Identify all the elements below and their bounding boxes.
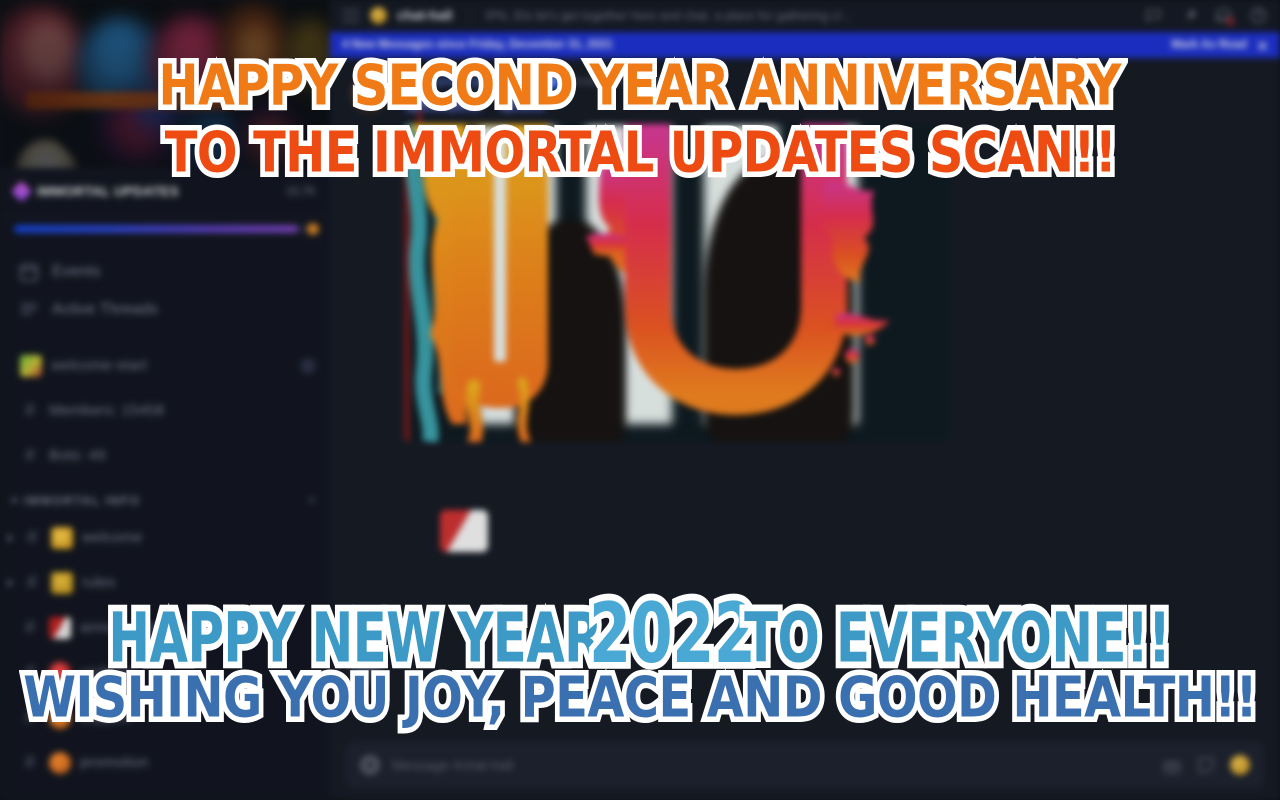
sidebar-item-welcome-start[interactable]: welcome-start [0,343,330,388]
members-icon: # [20,400,40,421]
chevron-right-icon [8,534,13,542]
sidebar-item-support[interactable]: # support [0,695,330,740]
sidebar-item-label: announcements [80,619,189,636]
reaction-emoji-icon[interactable] [440,510,488,552]
bots-icon: # [20,445,40,466]
calendar-icon [18,261,40,283]
iu-logo-svg [404,124,949,442]
sidebar-item-label: updates [80,664,135,681]
sidebar-item-label: promotion [80,754,149,771]
emoji-icon [49,662,71,684]
message-item[interactable] [350,650,398,686]
sidebar-item-promotion[interactable]: # promotion [0,740,330,785]
mention-everyone[interactable]: @everyone [404,97,482,113]
boost-progress-fill [14,225,298,233]
channel-topbar: chat-hall IPN, IDs let's get together he… [330,0,1280,32]
sidebar-item-label: Active Threads [52,301,158,319]
threads-icon[interactable] [1144,6,1163,25]
unread-text: 4 New Messages since Friday, December 31… [342,39,1171,51]
emoji-icon [49,617,71,639]
unread-messages-bar[interactable]: 4 New Messages since Friday, December 31… [330,32,1280,58]
boost-progress-track [14,225,316,233]
emoji-icon [49,752,71,774]
message-composer[interactable]: Message #chat-hall [346,742,1264,788]
mark-as-read-button[interactable]: Mark As Read [1171,39,1247,51]
mention-here[interactable]: @here [499,97,547,113]
avatar[interactable] [350,652,384,686]
emoji-icon [51,572,73,594]
emoji-icon[interactable] [1230,755,1250,775]
chevron-right-icon [8,579,13,587]
message-image-attachment[interactable] [404,124,949,442]
server-sidebar: IMMORTAL UPDATES 15,7K Events Active Thr… [0,0,330,800]
message-header: ImmortalUpdates BOT Today at 12:04 AM [404,72,1260,92]
sidebar-item-label: Events [52,263,101,281]
menu-icon[interactable] [342,9,360,23]
sidebar-item-bots[interactable]: # Bots: 49 [0,433,330,478]
channel-list[interactable]: Events Active Threads welcome-start # Me… [0,239,330,800]
message-item[interactable]: ImmortalUpdates BOT Today at 12:04 AM @e… [350,72,1260,442]
pin-icon[interactable] [1179,6,1198,25]
server-member-count: 15,7K [286,186,316,198]
boost-progress-knob [307,223,319,235]
bot-badge: BOT [530,76,562,89]
message-body: ImmortalUpdates BOT Today at 12:04 AM @e… [404,72,1260,442]
sidebar-item-events[interactable]: Events [0,253,330,291]
inbox-icon[interactable] [1214,6,1233,25]
banner-fade [0,0,330,168]
help-icon[interactable] [1249,6,1268,25]
close-icon[interactable] [1257,40,1268,51]
main-content: chat-hall IPN, IDs let's get together he… [330,0,1280,800]
boost-diamond-icon [11,181,32,202]
category-label: IMMORTAL INFO [24,494,300,508]
sidebar-item-badge [300,358,316,374]
message-timestamp: Today at 12:04 AM [571,76,666,88]
inbox-badge [1226,17,1235,26]
sidebar-item-members[interactable]: # Members: 15458 [0,388,330,433]
message-text: @everyone @here [404,95,1260,116]
gift-icon[interactable] [1162,755,1182,775]
avatar[interactable] [350,74,390,114]
sidebar-item-welcome[interactable]: # welcome [0,515,330,560]
iu-logo [404,124,949,442]
discord-app-window: IMMORTAL UPDATES 15,7K Events Active Thr… [0,0,1280,800]
hash-icon: # [22,527,42,548]
channel-topic: IPN, IDs let's get together here and cha… [486,9,1122,23]
sticker-icon[interactable] [1196,755,1216,775]
hash-icon: # [22,572,42,593]
emoji-icon [51,527,73,549]
message-input[interactable]: Message #chat-hall [392,757,1150,773]
message-list[interactable]: ImmortalUpdates BOT Today at 12:04 AM @e… [330,58,1280,742]
channel-category-immortal-info[interactable]: IMMORTAL INFO + [0,478,330,515]
hash-icon: # [20,662,40,683]
sidebar-item-label: Members: 15458 [49,402,164,419]
threads-icon [18,299,40,321]
composer-icons [1162,755,1250,775]
chat-emoji-icon [370,7,387,24]
message-author[interactable]: ImmortalUpdates [404,74,522,90]
hash-icon: # [20,752,40,773]
sidebar-item-rules[interactable]: # rules [0,560,330,605]
sidebar-item-label: Bots: 49 [49,447,106,464]
sidebar-item-label: welcome [82,529,143,546]
unread-actions: Mark As Read [1171,39,1268,51]
hash-icon: # [20,707,40,728]
add-channel-icon[interactable]: + [307,492,316,509]
sidebar-item-label: support [80,709,131,726]
hash-icon: # [20,617,40,638]
chevron-down-icon [11,498,19,503]
sidebar-item-announcements[interactable]: # announcements [0,605,330,650]
sidebar-item-updates[interactable]: # updates [0,650,330,695]
sidebar-item-label: rules [82,574,116,591]
topbar-icons [1132,6,1268,25]
server-banner [0,0,330,168]
divider [469,8,470,24]
server-name: IMMORTAL UPDATES [37,184,278,199]
add-attachment-icon[interactable] [360,755,380,775]
emoji-icon [20,355,42,377]
sidebar-item-label: welcome-start [51,357,147,374]
sidebar-item-active-threads[interactable]: Active Threads [0,291,330,329]
emoji-icon [49,707,71,729]
server-header[interactable]: IMMORTAL UPDATES 15,7K [0,168,330,216]
channel-title: chat-hall [397,8,453,23]
boost-progress[interactable] [0,216,330,239]
